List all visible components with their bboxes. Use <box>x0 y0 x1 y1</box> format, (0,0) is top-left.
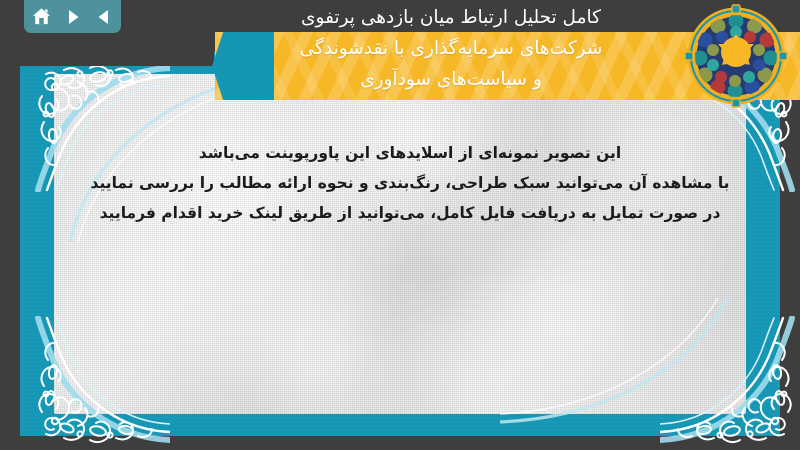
body-line: این تصویر نمونه‌ای از اسلایدهای این پاور… <box>40 138 780 168</box>
slide-body-text: این تصویر نمونه‌ای از اسلایدهای این پاور… <box>40 138 780 228</box>
triangle-right-icon <box>64 8 82 26</box>
banner-dark-tail <box>0 32 214 66</box>
persian-medallion-icon <box>684 4 788 108</box>
next-slide-button[interactable] <box>62 6 84 28</box>
body-line: در صورت تمایل به دریافت فایل کامل، می‌تو… <box>40 198 780 228</box>
content-surface <box>54 74 746 414</box>
home-button[interactable] <box>31 6 53 28</box>
prev-slide-button[interactable] <box>93 6 115 28</box>
slide-canvas: کامل تحلیل ارتباط میان بازدهی پرتفوی شرک… <box>0 0 800 450</box>
navigation-toolbar <box>24 0 121 33</box>
triangle-left-icon <box>95 8 113 26</box>
body-line: با مشاهده آن می‌توانید سبک طراحی، رنگ‌بن… <box>40 168 780 198</box>
home-icon <box>32 7 51 26</box>
content-panel <box>20 52 780 436</box>
page-title: کامل تحلیل ارتباط میان بازدهی پرتفوی شرک… <box>200 2 702 95</box>
